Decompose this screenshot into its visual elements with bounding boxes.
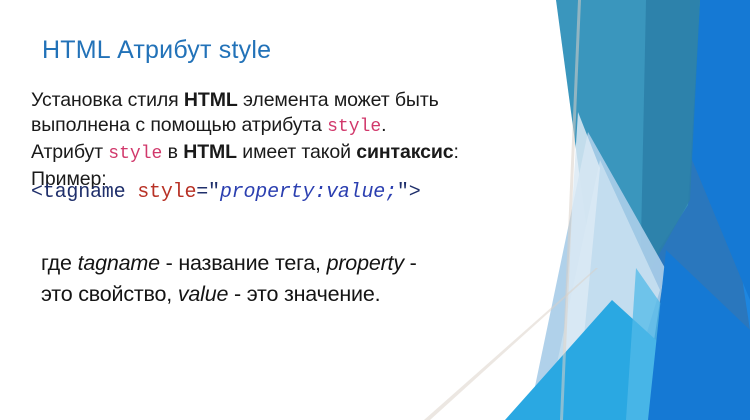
explanation-line-1-part3: - (404, 251, 417, 275)
body-line-3: Атрибут style в HTML имеет такой синтакс… (31, 140, 551, 167)
deco-shape-cyan-light (626, 268, 700, 420)
page-title: HTML Атрибут style (42, 36, 271, 65)
code-tag-open: <tagname (31, 181, 125, 204)
explanation-line-1-part1: где (41, 251, 78, 275)
explanation-line-1-part2: - название тега, (160, 251, 327, 275)
body-line-1: Установка стиля HTML элемента может быть (31, 88, 551, 113)
deco-shape-pale-blue-lighter (560, 112, 600, 400)
deco-shape-blue-bright (688, 0, 750, 300)
deco-shape-cyan (505, 300, 700, 420)
code-tag-close: > (409, 181, 421, 204)
explanation-block: где tagname - название тега, property - … (41, 248, 561, 310)
explanation-line-2-part1: это свойство, (41, 282, 178, 306)
explanation-italic-property: property (327, 251, 404, 275)
body-line-2: выполнена с помощью атрибута style. (31, 113, 551, 140)
deco-shape-pale-blue-light (545, 160, 660, 420)
body-line-2-part2: . (381, 114, 386, 136)
code-equals-quote: =" (196, 181, 220, 204)
body-line-3-part4: : (454, 141, 459, 163)
deco-shape-teal (556, 0, 700, 300)
body-line-2-part1: выполнена с помощью атрибута (31, 114, 327, 136)
code-quote-close: " (397, 181, 409, 204)
code-attribute-value: property:value; (220, 181, 397, 204)
body-line-3-part1: Атрибут (31, 141, 108, 163)
body-line-3-bold-syntax: синтаксис (356, 141, 453, 163)
body-line-3-bold-html: HTML (183, 141, 237, 163)
deco-shape-blue-bright-lower (648, 250, 750, 420)
body-line-3-part3: имеет такой (237, 141, 356, 163)
explanation-line-2: это свойство, value - это значение. (41, 279, 561, 310)
code-sample: <tagname style="property:value;"> (31, 181, 421, 204)
body-line-3-part2: в (162, 141, 183, 163)
code-attribute-style: style (137, 181, 196, 204)
slide-canvas: HTML Атрибут style Установка стиля HTML … (0, 0, 750, 420)
body-line-1-bold-html: HTML (184, 89, 238, 111)
body-line-1-part1: Установка стиля (31, 89, 184, 111)
code-space (125, 181, 137, 204)
deco-shape-blue-medium (601, 0, 750, 420)
explanation-line-2-part2: - это значение. (228, 282, 380, 306)
body-text-block: Установка стиля HTML элемента может быть… (31, 88, 551, 192)
explanation-italic-value: value (178, 282, 228, 306)
body-line-3-code-style: style (108, 144, 162, 164)
deco-shape-blue-vivid-base (560, 0, 750, 420)
body-line-1-part2: элемента может быть (238, 89, 439, 111)
body-line-2-code-style: style (327, 117, 381, 137)
explanation-italic-tagname: tagname (78, 251, 160, 275)
explanation-line-1: где tagname - название тега, property - (41, 248, 561, 279)
deco-shape-teal-deep (640, 0, 700, 288)
deco-hairline-upper (560, 0, 581, 420)
